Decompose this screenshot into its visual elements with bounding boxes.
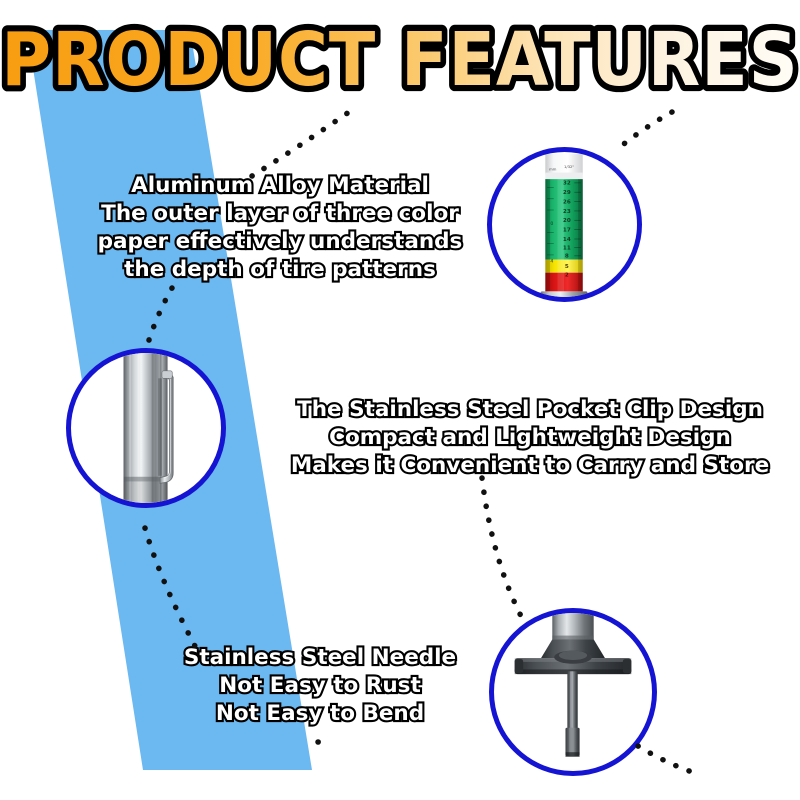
feature-line: Stainless Steel Needle — [160, 644, 480, 672]
page-title: PRODUCT FEATURES — [0, 20, 800, 98]
feature-line: paper effectively understands — [60, 228, 500, 256]
svg-text:14: 14 — [563, 237, 571, 243]
feature-line: the depth of tire patterns — [60, 256, 500, 284]
feature-line: The outer layer of three color — [60, 200, 500, 228]
feature-line: Makes it Convenient to Carry and Store — [280, 452, 780, 480]
svg-text:5: 5 — [565, 264, 569, 270]
feature-line: Not Easy to Bend — [160, 700, 480, 728]
stainless-steel-needle-photo — [494, 613, 652, 771]
feature-text-pocket-clip: The Stainless Steel Pocket Clip Design C… — [280, 396, 780, 480]
feature-text-stainless-needle: Stainless Steel Needle Not Easy to Rust … — [160, 644, 480, 728]
svg-text:20: 20 — [563, 218, 571, 224]
feature-text-aluminum-alloy: Aluminum Alloy Material The outer layer … — [60, 172, 500, 284]
svg-text:mm: mm — [549, 168, 557, 172]
svg-text:32: 32 — [563, 181, 571, 187]
callout-circle-pocket-clip — [66, 348, 226, 508]
svg-text:26: 26 — [563, 199, 571, 205]
page-title-graphic: PRODUCT FEATURES — [0, 20, 800, 98]
connector-aluminum-to-clip — [146, 288, 172, 350]
connector-cliptext-to-needle — [482, 478, 523, 620]
connector-title-to-aluminum — [252, 112, 349, 176]
connector-clip-to-needle-text — [145, 528, 196, 648]
svg-text:29: 29 — [563, 190, 571, 196]
connector-title-to-gauge — [614, 112, 672, 152]
product-features-poster: PRODUCT FEATURES Aluminum Alloy Material… — [0, 0, 800, 800]
page-title-text: PRODUCT FEATURES — [1, 20, 798, 98]
feature-line: Not Easy to Rust — [160, 672, 480, 700]
stainless-steel-pocket-clip-photo — [71, 353, 221, 503]
svg-text:1/32": 1/32" — [564, 165, 574, 169]
feature-line: Aluminum Alloy Material — [60, 172, 500, 200]
feature-line: Compact and Lightweight Design — [280, 424, 780, 452]
svg-text:2: 2 — [565, 272, 569, 278]
svg-text:11: 11 — [563, 245, 571, 251]
tire-tread-depth-gauge-photo: mm 1/32" 32 29 26 23 20 17 14 11 8 — [492, 152, 637, 297]
svg-text:0: 0 — [550, 221, 553, 227]
callout-circle-gauge: mm 1/32" 32 29 26 23 20 17 14 11 8 — [487, 147, 642, 302]
feature-line: The Stainless Steel Pocket Clip Design — [280, 396, 780, 424]
svg-text:4: 4 — [550, 258, 553, 264]
svg-text:8: 8 — [565, 254, 569, 260]
svg-text:23: 23 — [563, 209, 571, 215]
svg-text:17: 17 — [563, 228, 571, 234]
callout-circle-needle — [489, 608, 657, 776]
